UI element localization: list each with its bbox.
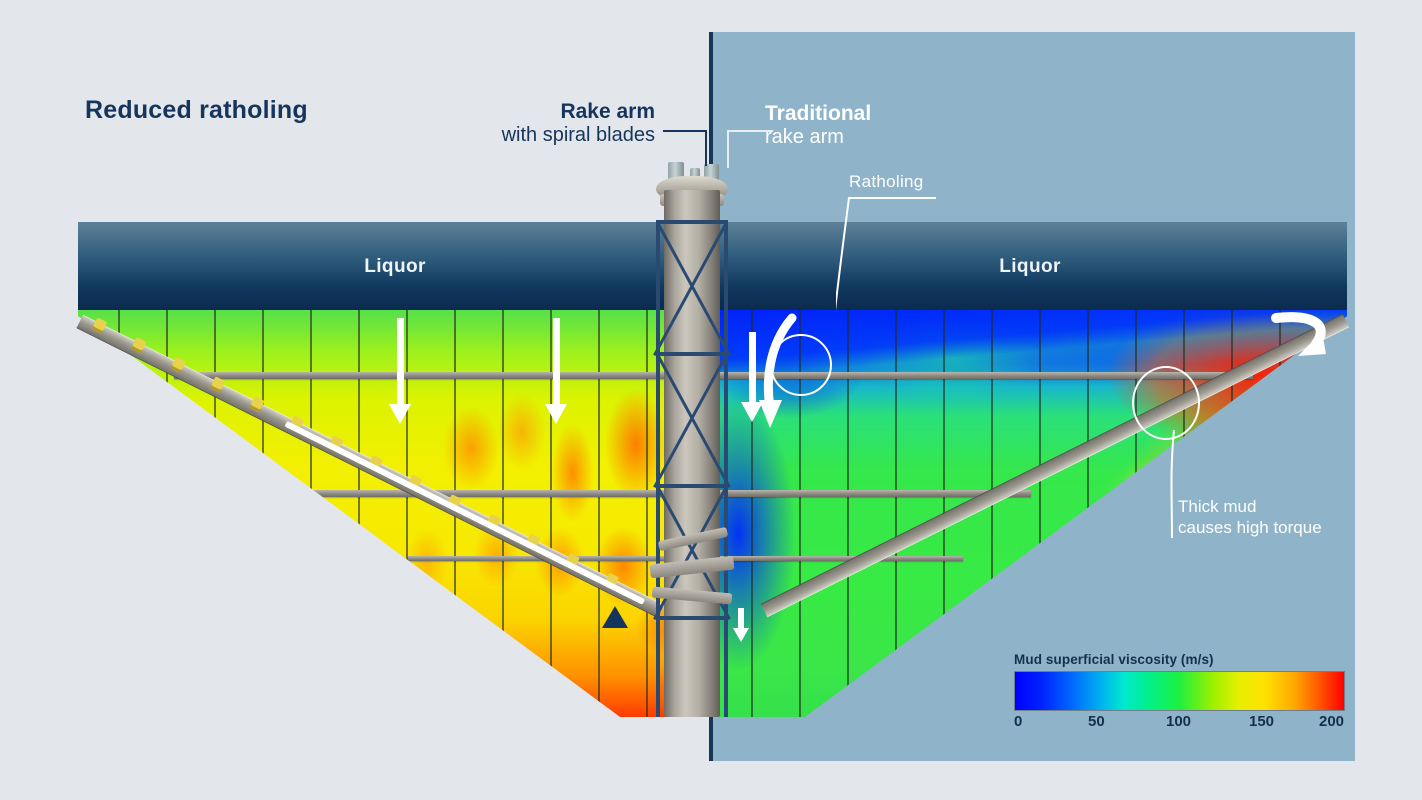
callout-rake-arm: Rake arm with spiral blades — [370, 100, 655, 146]
page-title: Reduced ratholing — [85, 96, 308, 125]
down-arrow-icon — [733, 608, 749, 642]
liquor-band-left: Liquor — [78, 222, 712, 310]
colorbar-tick-200: 200 — [1319, 713, 1344, 730]
liquor-band-right: Liquor — [713, 222, 1347, 310]
highlight-circle-icon — [770, 334, 832, 396]
illustration-canvas: Reduced ratholing Liquor Liquor — [0, 0, 1422, 800]
leader-line-thick-mud — [1160, 430, 1190, 540]
liquor-label-right: Liquor — [713, 256, 1347, 278]
callout-thick-mud: Thick mud causes high torque — [1178, 496, 1322, 539]
centre-column-assembly — [656, 162, 728, 717]
down-arrow-icon — [389, 318, 411, 424]
curved-arrow-icon — [1268, 306, 1338, 366]
callout-rake-arm-line1: Rake arm — [370, 100, 655, 124]
colorbar-tick-0: 0 — [1014, 713, 1022, 730]
legend-title: Mud superficial viscosity (m/s) — [1014, 652, 1345, 667]
leader-line-ratholing — [836, 196, 941, 346]
callout-thick-mud-line2: causes high torque — [1178, 518, 1322, 537]
callout-traditional-line2: rake arm — [765, 126, 1005, 148]
highlight-circle-icon — [1132, 366, 1200, 440]
colorbar-tick-50: 50 — [1088, 713, 1105, 730]
leader-line-rake-arm — [663, 130, 711, 166]
callout-traditional-rake-arm: Traditional rake arm — [765, 102, 1005, 148]
colorbar-tick-150: 150 — [1249, 713, 1274, 730]
down-arrow-icon — [545, 318, 567, 424]
callout-ratholing: Ratholing — [849, 172, 924, 192]
colorbar-tick-100: 100 — [1166, 713, 1191, 730]
triangle-marker-icon — [602, 606, 628, 628]
colorbar-gradient — [1014, 671, 1345, 711]
colorbar-ticks: 0 50 100 150 200 — [1014, 713, 1345, 733]
liquor-label-left: Liquor — [78, 256, 712, 278]
leader-line-traditional — [727, 130, 773, 168]
colorbar-legend: Mud superficial viscosity (m/s) 0 50 100… — [1014, 652, 1345, 733]
callout-rake-arm-line2: with spiral blades — [370, 124, 655, 146]
callout-traditional-line1: Traditional — [765, 102, 1005, 126]
